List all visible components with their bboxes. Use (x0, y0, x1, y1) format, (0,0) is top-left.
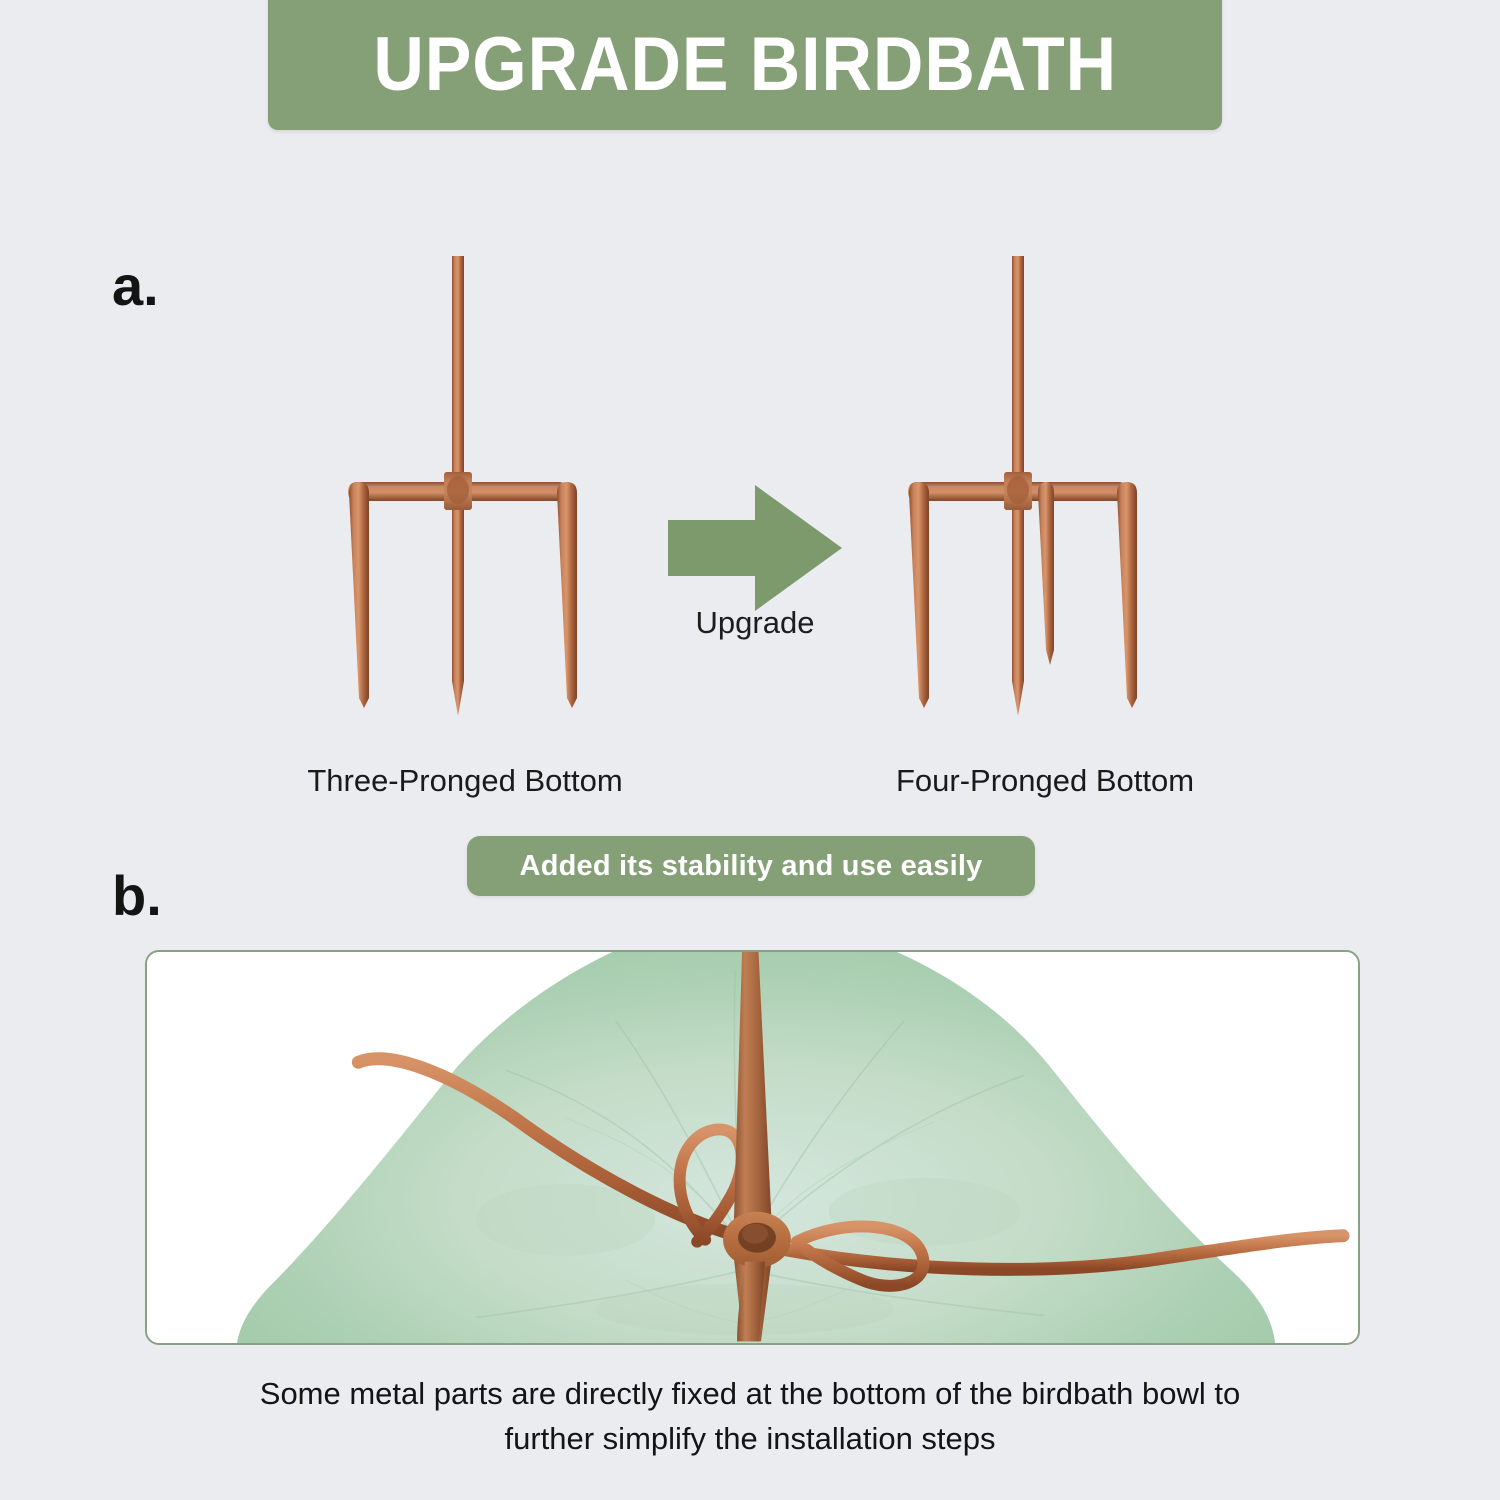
installation-caption-line2: further simplify the installation steps (150, 1417, 1350, 1462)
upgrade-label: Upgrade (640, 605, 870, 641)
page-title: UPGRADE BIRDBATH (373, 17, 1117, 103)
section-marker-b: b. (112, 868, 162, 924)
infographic-stage: UPGRADE BIRDBATH a. b. (0, 0, 1500, 1500)
birdbath-bowl-photo (147, 952, 1358, 1343)
three-prong-stake-icon (330, 250, 600, 750)
stability-badge: Added its stability and use easily (467, 836, 1035, 896)
three-prong-caption: Three-Pronged Bottom (250, 763, 680, 799)
section-marker-a: a. (112, 258, 159, 314)
stability-badge-label: Added its stability and use easily (520, 850, 983, 883)
installation-caption: Some metal parts are directly fixed at t… (150, 1372, 1350, 1462)
four-prong-stake-icon (890, 250, 1160, 750)
birdbath-photo-frame (145, 950, 1360, 1345)
header-banner: UPGRADE BIRDBATH (268, 0, 1222, 130)
installation-caption-line1: Some metal parts are directly fixed at t… (150, 1372, 1350, 1417)
four-prong-caption: Four-Pronged Bottom (830, 763, 1260, 799)
